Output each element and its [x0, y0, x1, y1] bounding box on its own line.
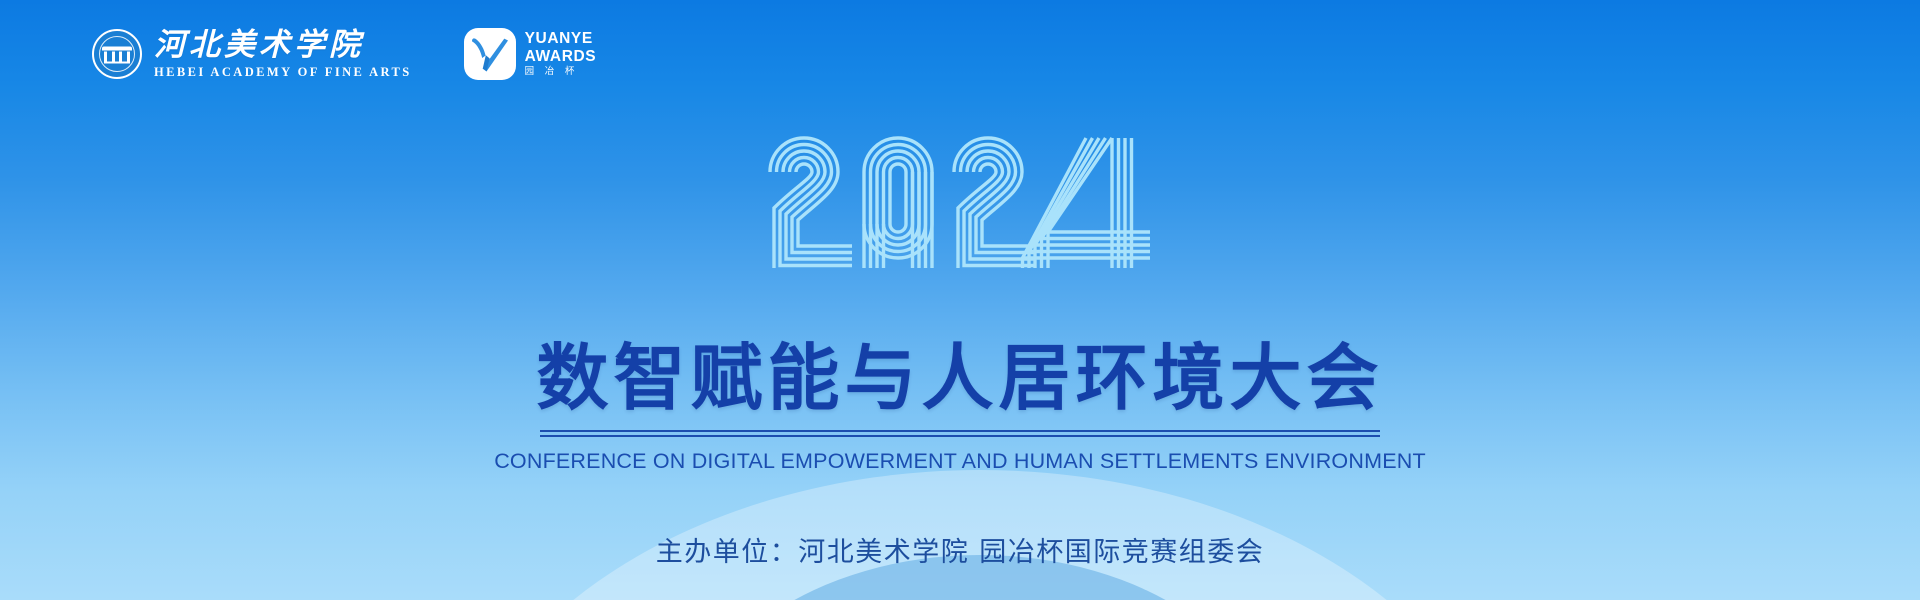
hebei-name-en: HEBEI ACADEMY OF FINE ARTS — [154, 65, 412, 80]
yuanye-line2: AWARDS — [525, 49, 597, 65]
hebei-name-cn: 河北美术学院 — [154, 28, 412, 62]
yuanye-text-block: YUANYE AWARDS 园 冶 杯 — [525, 31, 597, 77]
title-block: 数智赋能与人居环境大会 CONFERENCE ON DIGITAL EMPOWE… — [0, 338, 1920, 474]
logo-row: 河北美术学院 HEBEI ACADEMY OF FINE ARTS YUANYE… — [92, 28, 596, 80]
page-subtitle: CONFERENCE ON DIGITAL EMPOWERMENT AND HU… — [494, 449, 1426, 474]
yuanye-awards-logo[interactable]: YUANYE AWARDS 园 冶 杯 — [464, 28, 597, 80]
year-graphic — [0, 128, 1920, 268]
yuanye-line1: YUANYE — [525, 31, 597, 47]
gate-glyph-icon — [104, 46, 130, 63]
conference-banner: 河北美术学院 HEBEI ACADEMY OF FINE ARTS YUANYE… — [0, 0, 1920, 600]
organizer-line: 主办单位：河北美术学院 园冶杯国际竞赛组委会 — [0, 530, 1920, 569]
title-rules — [540, 430, 1380, 437]
title-rule-top — [540, 430, 1380, 432]
title-rule-bottom — [540, 435, 1380, 437]
yuanye-y-mark-icon — [464, 28, 516, 80]
page-title: 数智赋能与人居环境大会 — [536, 338, 1383, 419]
yuanye-name-cn: 园 冶 杯 — [525, 67, 597, 77]
circular-gate-seal-icon — [92, 29, 142, 79]
hebei-academy-logo[interactable]: 河北美术学院 HEBEI ACADEMY OF FINE ARTS — [92, 28, 412, 79]
hebei-academy-names: 河北美术学院 HEBEI ACADEMY OF FINE ARTS — [154, 28, 412, 79]
